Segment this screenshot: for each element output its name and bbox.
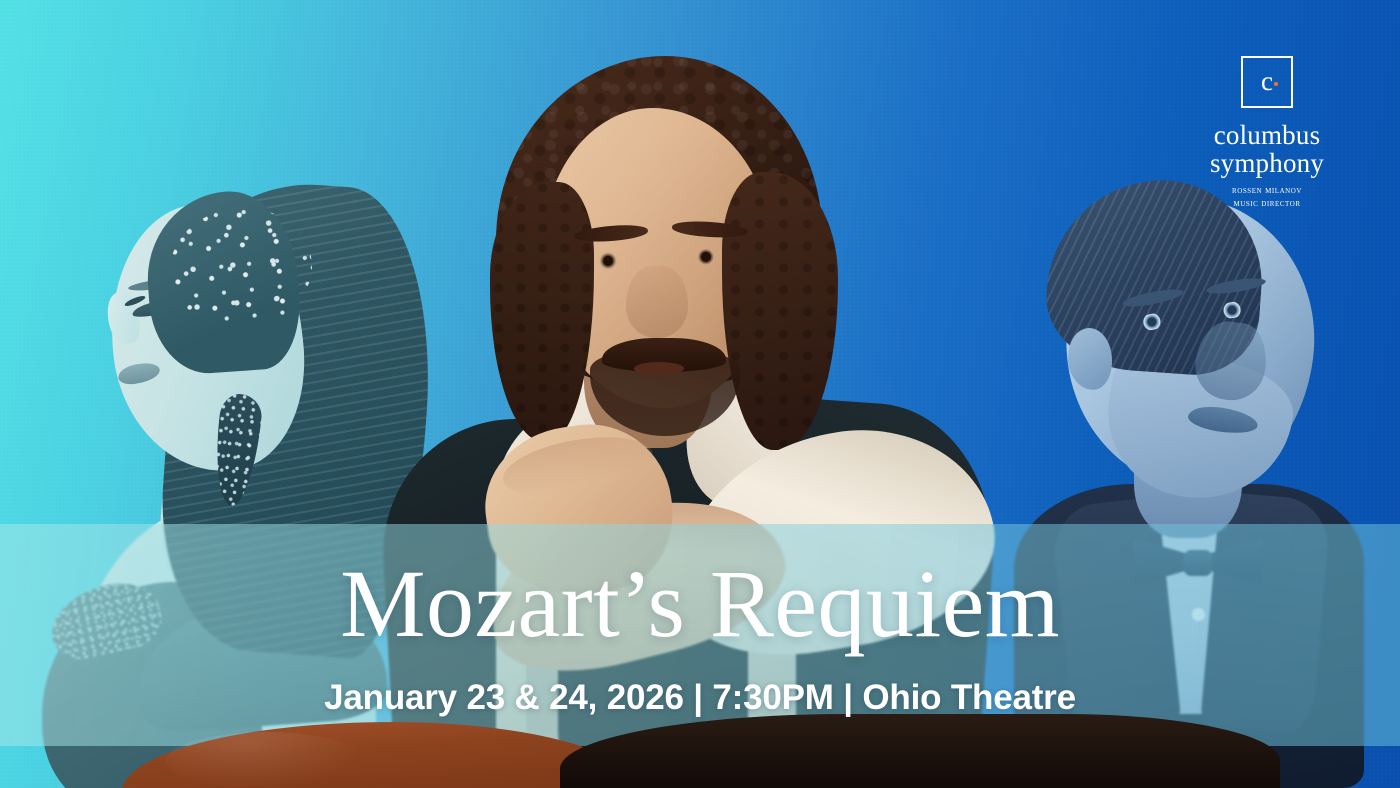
baritone-eye-left (586, 252, 632, 269)
logo-mark-dot-icon (1274, 82, 1278, 86)
music-director-name: Rossen Milanov (1192, 185, 1342, 198)
logo-c-mark-icon: c (1241, 56, 1293, 108)
dark-foreground-drape (560, 714, 1280, 788)
logo-word-line2: symphony (1192, 150, 1342, 178)
columbus-symphony-logo: c columbus symphony Rossen Milanov Music… (1192, 56, 1342, 211)
concert-poster: c columbus symphony Rossen Milanov Music… (0, 0, 1400, 788)
baritone-lips (634, 362, 684, 375)
logo-mark-letter: c (1243, 58, 1291, 106)
logo-music-director-credit: Rossen Milanov Music Director (1192, 185, 1342, 211)
event-title: Mozart’s Requiem (0, 556, 1400, 652)
music-director-role: Music Director (1192, 198, 1342, 211)
baritone-nose (626, 266, 688, 338)
event-details: January 23 & 24, 2026 | 7:30PM | Ohio Th… (0, 678, 1400, 717)
event-text-block: Mozart’s Requiem January 23 & 24, 2026 |… (0, 556, 1400, 717)
logo-word-line1: columbus (1192, 122, 1342, 150)
cello-highlight (166, 732, 366, 788)
logo-wordmark: columbus symphony (1192, 122, 1342, 178)
baritone-eye-right (682, 248, 728, 265)
